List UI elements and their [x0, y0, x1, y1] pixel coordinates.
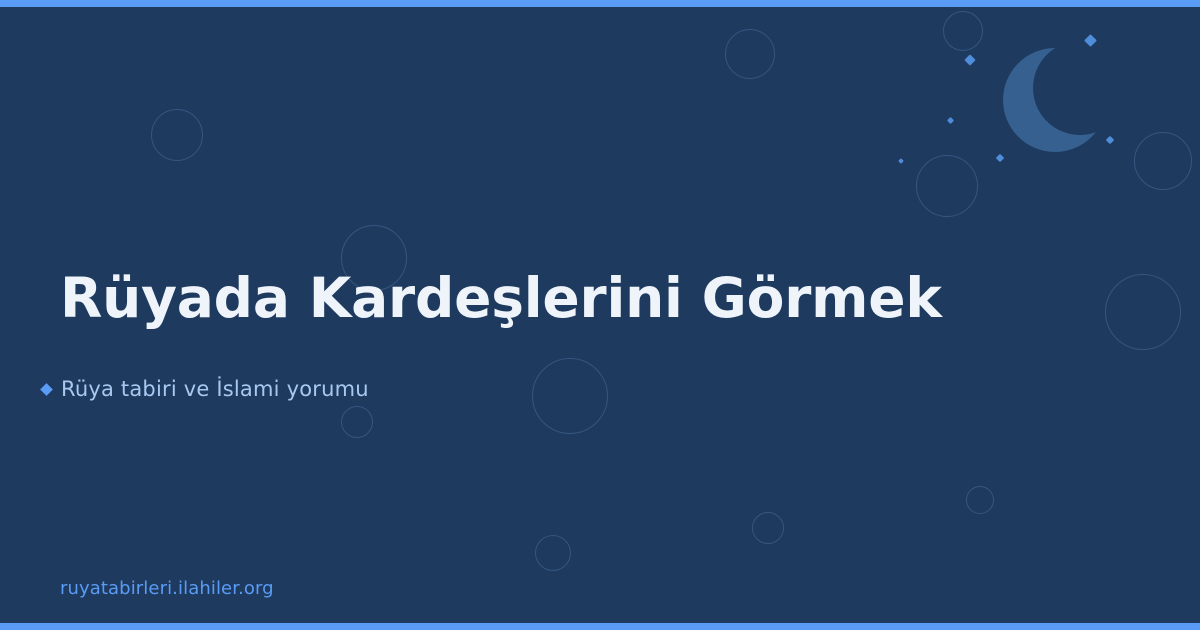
decor-circle [1105, 274, 1181, 350]
share-banner: Rüyada Kardeşlerini Görmek Rüya tabiri v… [0, 0, 1200, 630]
crescent-moon-icon [996, 40, 1120, 164]
site-url: ruyatabirleri.ilahiler.org [60, 578, 274, 599]
star-icon [1106, 136, 1114, 144]
star-icon [996, 154, 1004, 162]
subtitle-row: Rüya tabiri ve İslami yorumu [38, 377, 369, 401]
star-icon [964, 54, 975, 65]
star-icon [1084, 34, 1097, 47]
subtitle-text: Rüya tabiri ve İslami yorumu [61, 377, 369, 401]
decor-circle [966, 486, 994, 514]
diamond-bullet-icon [40, 383, 53, 396]
decor-circle [1134, 132, 1192, 190]
banner-content: Rüyada Kardeşlerini Görmek Rüya tabiri v… [60, 0, 960, 630]
bottom-accent-bar [0, 623, 1200, 630]
page-title: Rüyada Kardeşlerini Görmek [60, 268, 942, 330]
top-accent-bar [0, 0, 1200, 7]
